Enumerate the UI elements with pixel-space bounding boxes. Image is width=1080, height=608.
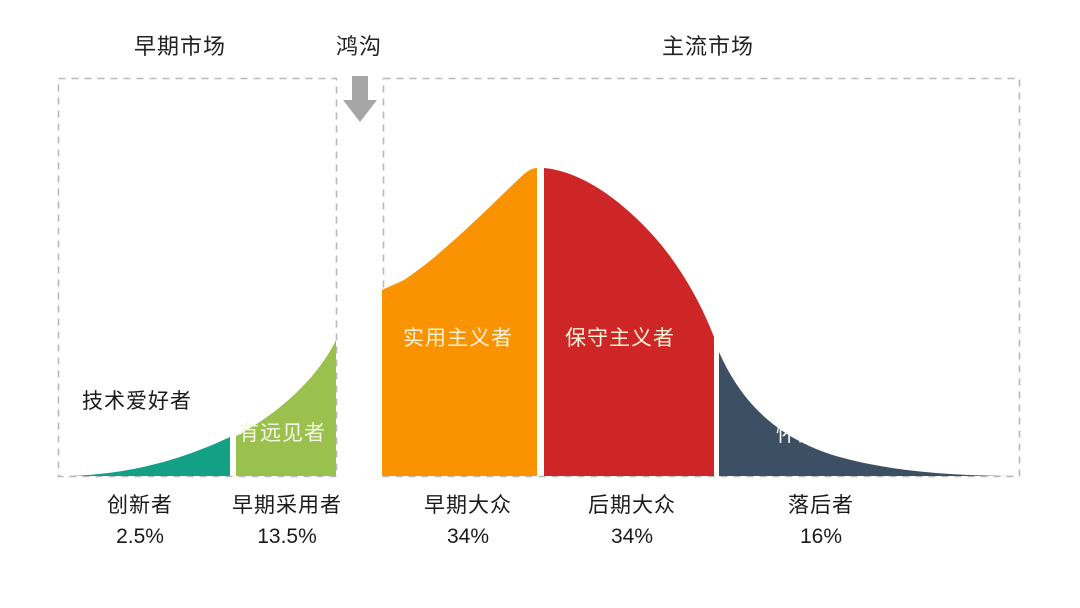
segment-area-laggards <box>719 352 1020 476</box>
category-percent: 34% <box>388 523 548 551</box>
category-percent: 13.5% <box>198 523 376 551</box>
segment-label-early-adopters: 有远见者 <box>238 422 326 446</box>
segment-label-late-majority: 保守主义者 <box>565 327 675 351</box>
category-innovators: 创新者 2.5% <box>60 492 220 550</box>
adoption-curve-chart: 早期市场 鸿沟 主流市场 技术爱好者 有远见者 实用主义者 保守主义者 怀疑论者… <box>0 0 1080 608</box>
category-laggards: 落后者 16% <box>738 492 904 550</box>
segment-label-early-majority: 实用主义者 <box>403 327 513 351</box>
phase-label-mainstream-market: 主流市场 <box>662 34 754 59</box>
category-name: 后期大众 <box>552 492 712 520</box>
category-late-majority: 后期大众 34% <box>552 492 712 550</box>
phase-label-early-market: 早期市场 <box>134 34 226 59</box>
category-name: 早期采用者 <box>198 492 376 520</box>
category-early-majority: 早期大众 34% <box>388 492 548 550</box>
segment-label-laggards: 怀疑论者 <box>776 423 864 447</box>
segment-area-early-majority <box>382 168 537 476</box>
segment-area-late-majority <box>544 168 714 476</box>
category-name: 创新者 <box>60 492 220 520</box>
segment-area-innovators <box>70 437 230 476</box>
category-percent: 34% <box>552 523 712 551</box>
category-name: 早期大众 <box>388 492 548 520</box>
category-early-adopters: 早期采用者 13.5% <box>198 492 376 550</box>
segment-area-early-adopters <box>236 340 336 476</box>
phase-label-chasm: 鸿沟 <box>336 34 382 59</box>
chasm-arrow-icon <box>343 76 377 122</box>
category-percent: 16% <box>738 523 904 551</box>
segment-label-innovators: 技术爱好者 <box>82 390 192 414</box>
category-percent: 2.5% <box>60 523 220 551</box>
category-name: 落后者 <box>738 492 904 520</box>
